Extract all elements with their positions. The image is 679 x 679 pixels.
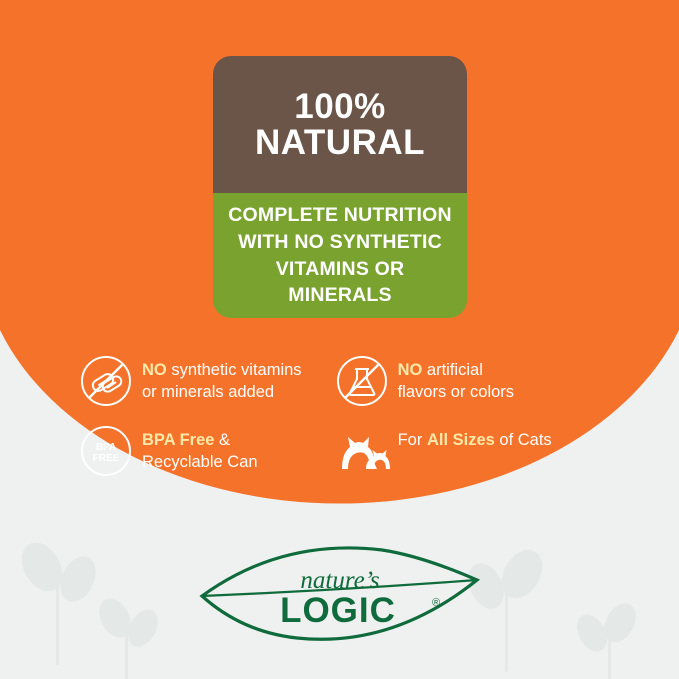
- feature-row-2: BPA FREE BPA Free & Recyclable Can: [80, 425, 600, 477]
- feature-no-synthetic-vitamins: NO synthetic vitamins or minerals added: [80, 355, 336, 407]
- feature-list: NO synthetic vitamins or minerals added: [80, 355, 600, 495]
- feature-line2-1: or minerals added: [142, 383, 274, 401]
- bpa-icon-label-line1: BPA: [96, 442, 116, 453]
- feature-highlight-3: BPA Free: [142, 431, 214, 449]
- no-pills-icon: [80, 355, 132, 407]
- feature-line1-1: synthetic vitamins: [167, 361, 302, 379]
- feature-highlight-2: NO: [398, 361, 423, 379]
- feature-text-4: For All Sizes of Cats: [398, 425, 552, 452]
- feature-line1-3: &: [214, 431, 230, 449]
- feature-no-artificial-flavors: NO artificial flavors or colors: [336, 355, 600, 407]
- feature-line2-2: flavors or colors: [398, 383, 514, 401]
- feature-prefix-4: For: [398, 431, 427, 449]
- logo-text-logic: LOGIC: [280, 591, 396, 630]
- badge-headline-line2: NATURAL: [255, 125, 425, 161]
- feature-row-1: NO synthetic vitamins or minerals added: [80, 355, 600, 407]
- feature-highlight-1: NO: [142, 361, 167, 379]
- badge-headline-line1: 100%: [294, 89, 386, 125]
- feature-line1-2: artificial: [422, 361, 483, 379]
- brand-logo: nature’s LOGIC ®: [192, 540, 487, 652]
- logo-registered-mark: ®: [432, 597, 440, 609]
- bpa-free-icon: BPA FREE: [80, 425, 132, 477]
- feature-all-sizes-cats: For All Sizes of Cats: [336, 425, 600, 477]
- bpa-icon-label-line2: FREE: [93, 453, 120, 464]
- cats-icon: [336, 425, 388, 477]
- badge-subtext-line1: COMPLETE NUTRITION: [228, 202, 452, 229]
- feature-highlight-4: All Sizes: [427, 431, 495, 449]
- feature-text-3: BPA Free & Recyclable Can: [142, 425, 258, 474]
- feature-text-2: NO artificial flavors or colors: [398, 355, 514, 404]
- feature-line1-4: of Cats: [495, 431, 552, 449]
- product-infographic: 100% NATURAL COMPLETE NUTRITION WITH NO …: [0, 0, 679, 679]
- badge-subtext-line2: WITH NO SYNTHETIC: [238, 229, 442, 256]
- logo-text-natures: nature’s: [300, 567, 379, 594]
- natural-badge-card: 100% NATURAL COMPLETE NUTRITION WITH NO …: [213, 56, 467, 318]
- no-flask-icon: [336, 355, 388, 407]
- feature-text-1: NO synthetic vitamins or minerals added: [142, 355, 302, 404]
- feature-bpa-free: BPA FREE BPA Free & Recyclable Can: [80, 425, 336, 477]
- feature-line2-3: Recyclable Can: [142, 453, 258, 471]
- badge-subtext: COMPLETE NUTRITION WITH NO SYNTHETIC VIT…: [213, 193, 467, 318]
- badge-subtext-line3: VITAMINS OR MINERALS: [223, 256, 457, 309]
- badge-headline: 100% NATURAL: [213, 56, 467, 193]
